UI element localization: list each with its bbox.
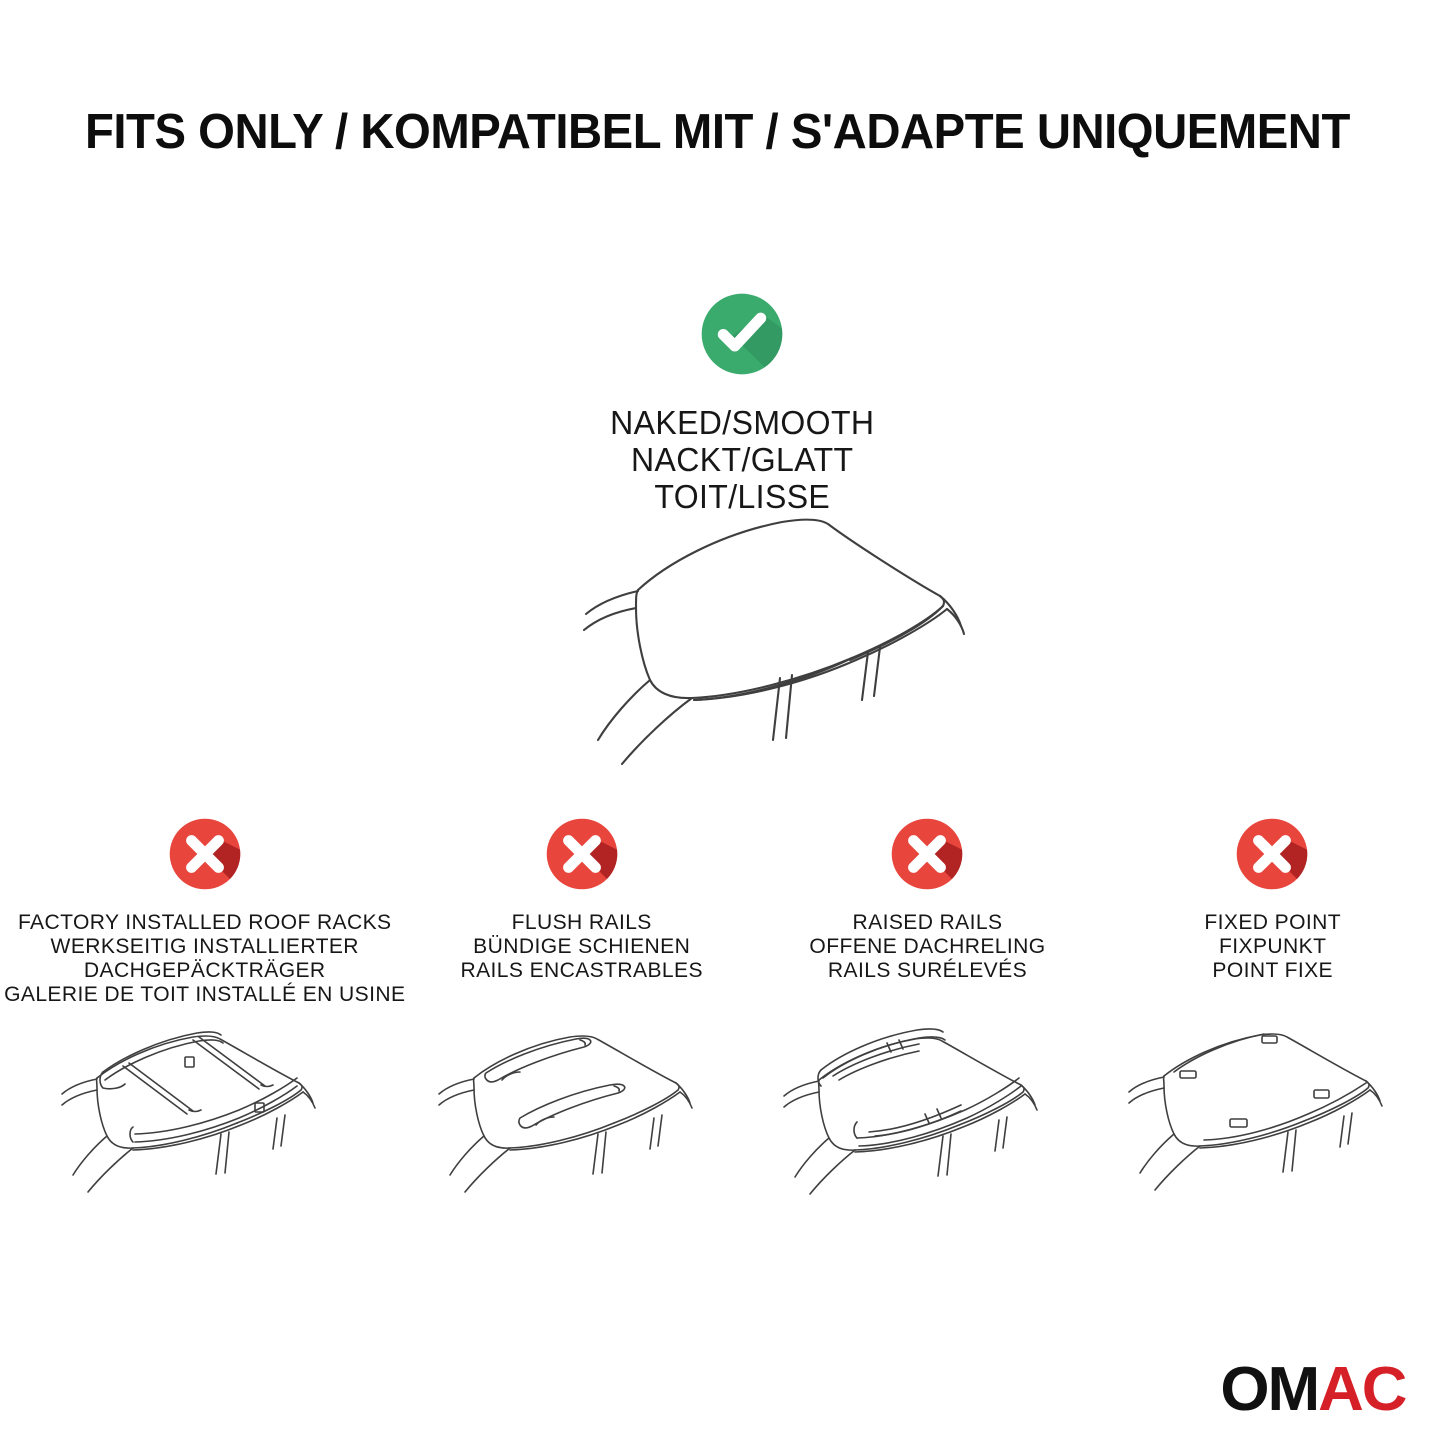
compatibility-chart: FITS ONLY / KOMPATIBEL MIT / S'ADAPTE UN…: [0, 0, 1445, 1445]
cross-circle-icon: [885, 812, 969, 896]
incompatible-caption: FACTORY INSTALLED ROOF RACKS WERKSEITIG …: [4, 910, 405, 1006]
incompatible-item-flush-rails: FLUSH RAILS BÜNDIGE SCHIENEN RAILS ENCAS…: [409, 812, 754, 1282]
caption-line-fr: POINT FIXE: [1204, 958, 1341, 982]
caption-line-en: FIXED POINT: [1204, 910, 1341, 934]
caption-line-de-2: DACHGEPÄCKTRÄGER: [4, 958, 405, 982]
cross-circle-icon: [1230, 812, 1314, 896]
page-title: FITS ONLY / KOMPATIBEL MIT / S'ADAPTE UN…: [85, 103, 1340, 161]
caption-line-fr: GALERIE DE TOIT INSTALLÉ EN USINE: [4, 982, 405, 1006]
caption-line-de-1: WERKSEITIG INSTALLIERTER: [4, 934, 405, 958]
caption-line-fr: RAILS ENCASTRABLES: [461, 958, 703, 982]
caption-line-de: OFFENE DACHRELING: [809, 934, 1045, 958]
check-circle-icon: [694, 286, 790, 382]
incompatible-item-factory-racks: FACTORY INSTALLED ROOF RACKS WERKSEITIG …: [0, 812, 409, 1282]
incompatible-group: FACTORY INSTALLED ROOF RACKS WERKSEITIG …: [0, 812, 1445, 1282]
caption-line-en: NAKED/SMOOTH: [610, 404, 874, 441]
caption-line-en: FACTORY INSTALLED ROOF RACKS: [4, 910, 405, 934]
car-roof-raised-rails-illustration: [747, 1018, 1107, 1233]
logo-text-om: OM: [1220, 1355, 1318, 1424]
incompatible-caption: RAISED RAILS OFFENE DACHRELING RAILS SUR…: [809, 910, 1045, 982]
logo-text-ac: AC: [1318, 1355, 1405, 1424]
cross-circle-icon: [163, 812, 247, 896]
caption-line-fr: RAILS SURÉLEVÉS: [809, 958, 1045, 982]
cross-circle-icon: [540, 812, 624, 896]
caption-line-en: FLUSH RAILS: [461, 910, 703, 934]
caption-line-de: BÜNDIGE SCHIENEN: [461, 934, 703, 958]
omac-logo: OMAC: [1220, 1359, 1405, 1421]
caption-line-de: NACKT/GLATT: [610, 441, 874, 478]
compatible-group: NAKED/SMOOTH NACKT/GLATT TOIT/LISSE: [432, 286, 1052, 515]
caption-line-de: FIXPUNKT: [1204, 934, 1341, 958]
car-roof-fixed-point-illustration: [1092, 1018, 1445, 1233]
incompatible-item-fixed-point: FIXED POINT FIXPUNKT POINT FIXE: [1100, 812, 1445, 1282]
car-roof-flush-rails-illustration: [402, 1018, 762, 1233]
incompatible-item-raised-rails: RAISED RAILS OFFENE DACHRELING RAILS SUR…: [755, 812, 1100, 1282]
car-roof-naked-smooth-illustration: [470, 492, 1015, 772]
caption-line-en: RAISED RAILS: [809, 910, 1045, 934]
incompatible-caption: FLUSH RAILS BÜNDIGE SCHIENEN RAILS ENCAS…: [461, 910, 703, 982]
car-roof-factory-racks-illustration: [25, 1018, 385, 1233]
incompatible-caption: FIXED POINT FIXPUNKT POINT FIXE: [1204, 910, 1341, 982]
